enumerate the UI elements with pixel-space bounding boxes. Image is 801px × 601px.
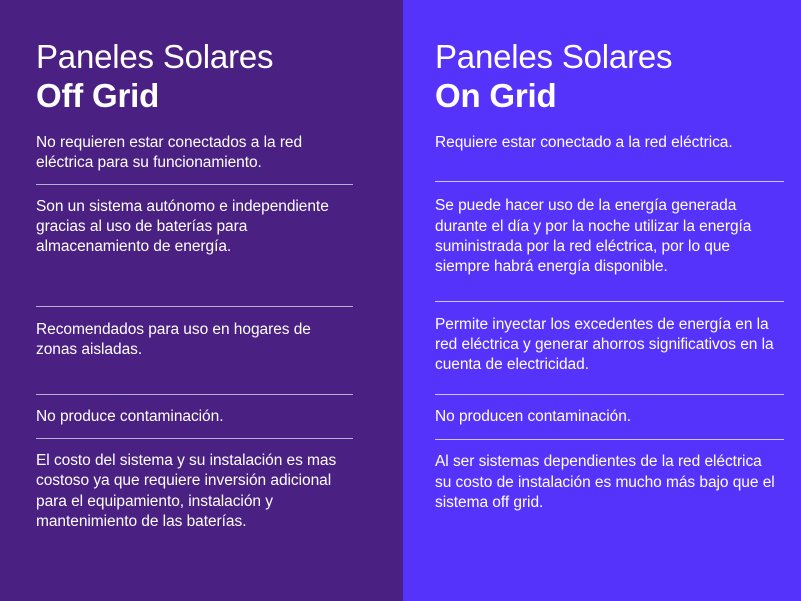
panel-off-grid-title-line2: Off Grid (36, 77, 355, 116)
feature-divider (36, 184, 353, 185)
feature-item: No produce contaminación. (36, 407, 355, 433)
panel-off-grid-feature-list: No requieren estar conectados a la red e… (36, 133, 355, 532)
feature-item: Permite inyectar los excedentes de energ… (435, 315, 781, 385)
feature-item: No producen contaminación. (435, 407, 781, 433)
feature-divider (36, 306, 353, 307)
solar-panel-comparison-board: Paneles Solares Off Grid No requieren es… (0, 0, 801, 601)
panel-on-grid: Paneles Solares On Grid Requiere estar c… (403, 0, 801, 601)
feature-item: Al ser sistemas dependientes de la red e… (435, 452, 781, 512)
panel-on-grid-title-line2: On Grid (435, 77, 781, 116)
feature-item: Se puede hacer uso de la energía generad… (435, 196, 781, 287)
panel-off-grid-title-line1: Paneles Solares (36, 38, 355, 77)
panel-on-grid-feature-list: Requiere estar conectado a la red eléctr… (435, 133, 781, 513)
feature-item: El costo del sistema y su instalación es… (36, 451, 355, 532)
panel-on-grid-title-line1: Paneles Solares (435, 38, 781, 77)
feature-divider (36, 438, 353, 439)
feature-divider (435, 394, 784, 395)
feature-item: Requiere estar conectado a la red eléctr… (435, 133, 781, 163)
feature-item: No requieren estar conectados a la red e… (36, 133, 355, 183)
panel-off-grid-heading: Paneles Solares Off Grid (36, 38, 355, 115)
panel-on-grid-heading: Paneles Solares On Grid (435, 38, 781, 115)
feature-divider (435, 301, 784, 302)
panel-off-grid: Paneles Solares Off Grid No requieren es… (0, 0, 403, 601)
feature-divider (435, 439, 784, 440)
feature-item: Son un sistema autónomo e independiente … (36, 197, 355, 267)
feature-item: Recomendados para uso en hogares de zona… (36, 320, 355, 370)
feature-divider (435, 181, 784, 182)
feature-divider (36, 394, 353, 395)
